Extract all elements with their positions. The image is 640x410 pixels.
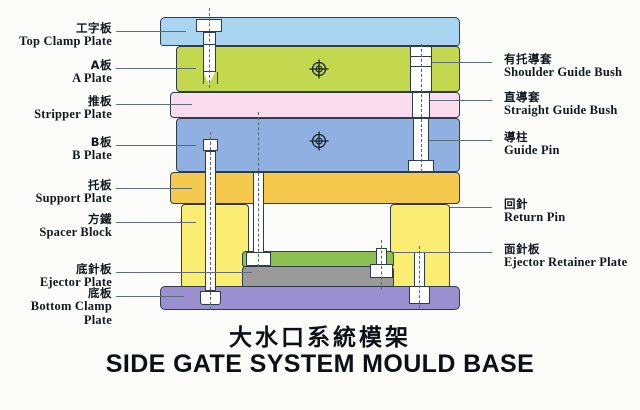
- label-straight-guide-bush: 直導套 Straight Guide Bush: [504, 91, 640, 118]
- leader-ejector-retainer-plate: [393, 252, 492, 253]
- label-a-plate-en: A Plate: [0, 72, 112, 86]
- ejector-pin-centre-centerline: [258, 112, 259, 267]
- label-b-plate: B板 B Plate: [0, 136, 112, 163]
- label-return-pin: 回針 Return Pin: [504, 198, 640, 225]
- label-straight-guide-bush-en: Straight Guide Bush: [504, 104, 640, 118]
- label-spacer-block-cn: 方鐵: [0, 213, 112, 225]
- label-ejector-retainer-plate-cn: 面針板: [504, 243, 640, 255]
- label-stripper-plate-en: Stripper Plate: [0, 108, 112, 122]
- label-shoulder-guide-bush-cn: 有托導套: [504, 53, 640, 65]
- title-english: SIDE GATE SYSTEM MOULD BASE: [0, 350, 640, 379]
- label-top-clamp-plate: 工字板 Top Clamp Plate: [0, 22, 112, 49]
- label-shoulder-guide-bush-en: Shoulder Guide Bush: [504, 66, 640, 80]
- label-support-plate-en: Support Plate: [0, 192, 112, 206]
- leader-spacer-block: [116, 222, 196, 223]
- label-spacer-block: 方鐵 Spacer Block: [0, 213, 112, 240]
- label-a-plate-cn: A板: [0, 59, 112, 71]
- leader-shoulder-guide-bush: [432, 62, 492, 63]
- sprue-centerline: [209, 8, 210, 88]
- label-support-plate-cn: 托板: [0, 179, 112, 191]
- guide-pin-centerline: [421, 44, 422, 172]
- leader-straight-guide-bush: [430, 100, 492, 101]
- return-pin-left-centerline: [210, 132, 211, 310]
- leader-guide-pin: [429, 140, 492, 141]
- leader-top-clamp-plate: [116, 31, 186, 32]
- label-ejector-plate-cn: 底針板: [0, 263, 112, 275]
- label-support-plate: 托板 Support Plate: [0, 179, 112, 206]
- label-b-plate-en: B Plate: [0, 149, 112, 163]
- return-pin-right-centerline: [381, 240, 382, 290]
- label-bottom-clamp-plate-cn: 底板: [0, 287, 112, 299]
- leader-support-plate: [116, 188, 192, 189]
- center-target-icon-b-plate: [309, 131, 329, 151]
- label-a-plate: A板 A Plate: [0, 59, 112, 86]
- label-top-clamp-plate-en: Top Clamp Plate: [0, 35, 112, 49]
- label-stripper-plate-cn: 推板: [0, 95, 112, 107]
- leader-a-plate: [116, 68, 196, 69]
- label-guide-pin-cn: 導柱: [504, 131, 640, 143]
- label-ejector-retainer-plate: 面針板 Ejector Retainer Plate: [504, 243, 640, 270]
- label-straight-guide-bush-cn: 直導套: [504, 91, 640, 103]
- label-b-plate-cn: B板: [0, 136, 112, 148]
- support-pillar-screw-centerline: [419, 246, 420, 308]
- center-target-icon-a-plate: [309, 59, 329, 79]
- mould-base-diagram: 工字板 Top Clamp Plate A板 A Plate 推板 Stripp…: [0, 0, 640, 410]
- leader-b-plate: [116, 145, 196, 146]
- label-spacer-block-en: Spacer Block: [0, 226, 112, 240]
- leader-stripper-plate: [116, 104, 192, 105]
- title-chinese: 大水口系統模架: [0, 318, 640, 352]
- leader-bottom-clamp-plate: [116, 296, 184, 297]
- label-return-pin-cn: 回針: [504, 198, 640, 210]
- sprue-bush-tip-outline: [203, 72, 218, 84]
- label-top-clamp-plate-cn: 工字板: [0, 22, 112, 34]
- label-ejector-retainer-plate-en: Ejector Retainer Plate: [504, 256, 640, 270]
- label-stripper-plate: 推板 Stripper Plate: [0, 95, 112, 122]
- leader-ejector-plate: [116, 272, 252, 273]
- label-guide-pin: 導柱 Guide Pin: [504, 131, 640, 158]
- leader-return-pin: [450, 207, 492, 208]
- label-return-pin-en: Return Pin: [504, 211, 640, 225]
- label-shoulder-guide-bush: 有托導套 Shoulder Guide Bush: [504, 53, 640, 80]
- label-guide-pin-en: Guide Pin: [504, 144, 640, 158]
